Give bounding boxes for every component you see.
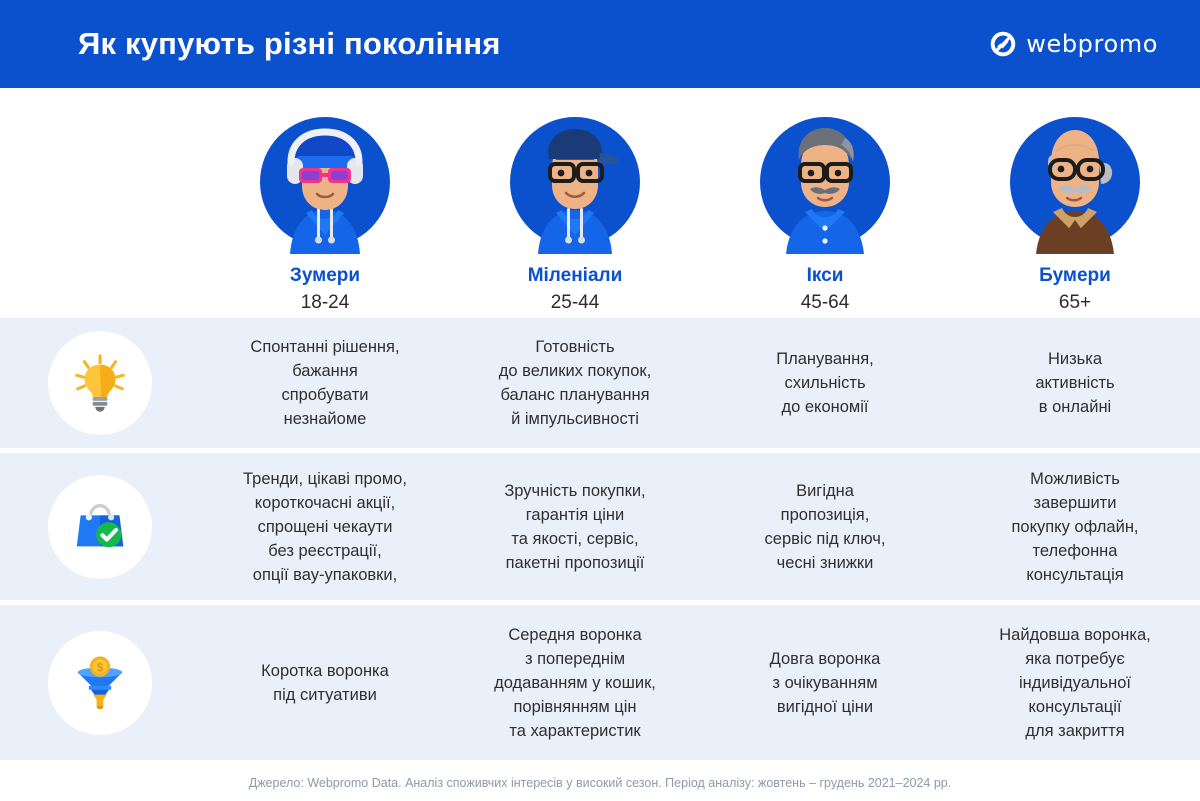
table-cell: Середня воронка з попереднім додаванням … [450, 623, 700, 743]
generation-column-zoomers: Зумери 18-24 [200, 88, 450, 318]
table-cell: Низька активність в онлайні [950, 347, 1200, 419]
webpromo-circle-chart-icon [989, 30, 1017, 58]
avatar-zoomer-beanie-sunglasses-headphones [250, 104, 400, 254]
row-icon-cell: $ [0, 631, 200, 735]
table-cell: Довга воронка з очікуванням вигідної цін… [700, 647, 950, 719]
table-cell: Зручність покупки, гарантія ціни та якос… [450, 479, 700, 575]
infographic-page: Як купують різні покоління webpromo [0, 0, 1200, 801]
generations-spacer [0, 88, 200, 318]
avatar-boomer-bald-glasses-sweater [1000, 104, 1150, 254]
table-row-funnel: $ Коротка воронка під ситуативи Середня … [0, 605, 1200, 760]
header-bar: Як купують різні покоління webpromo [0, 0, 1200, 88]
brand-logo: webpromo [989, 30, 1158, 58]
generation-column-boomers: Бумери 65+ [950, 88, 1200, 318]
table-row-motivation: Спонтанні рішення, бажання спробувати не… [0, 318, 1200, 448]
generation-name: Ікси [807, 265, 844, 287]
generation-age: 25-44 [551, 292, 600, 314]
table-cell: Готовність до великих покупок, баланс пл… [450, 335, 700, 431]
generation-age: 45-64 [801, 292, 850, 314]
generations-row: Зумери 18-24 [0, 88, 1200, 318]
table-cell: Планування, схильність до економії [700, 347, 950, 419]
footer-bar: Джерело: Webpromo Data. Аналіз споживчих… [0, 765, 1200, 801]
table-cell: Можливість завершити покупку офлайн, тел… [950, 467, 1200, 587]
generation-column-millennials: Міленіали 25-44 [450, 88, 700, 318]
sales-funnel-coin-icon: $ [48, 631, 152, 735]
row-icon-cell [0, 331, 200, 435]
generation-age: 65+ [1059, 292, 1091, 314]
table-cell: Коротка воронка під ситуативи [200, 659, 450, 707]
lightbulb-icon [48, 331, 152, 435]
table-cell: Вигідна пропозиція, сервіс під ключ, чес… [700, 479, 950, 575]
generation-name: Бумери [1039, 265, 1111, 287]
generation-name: Зумери [290, 265, 360, 287]
source-note: Джерело: Webpromo Data. Аналіз споживчих… [249, 776, 952, 790]
generation-age: 18-24 [301, 292, 350, 314]
table-cell: Найдовша воронка, яка потребує індивідуа… [950, 623, 1200, 743]
table-cell: Спонтанні рішення, бажання спробувати не… [200, 335, 450, 431]
shopping-bag-check-icon [48, 475, 152, 579]
generation-name: Міленіали [528, 265, 623, 287]
avatar-millennial-cap-glasses-hoodie [500, 104, 650, 254]
table-cell: Тренди, цікаві промо, короткочасні акції… [200, 467, 450, 587]
svg-text:$: $ [97, 661, 104, 674]
table-row-purchase-drivers: Тренди, цікаві промо, короткочасні акції… [0, 453, 1200, 600]
row-icon-cell [0, 475, 200, 579]
page-title: Як купують різні покоління [78, 26, 501, 62]
content-rows: Спонтанні рішення, бажання спробувати не… [0, 318, 1200, 765]
generation-column-genx: Ікси 45-64 [700, 88, 950, 318]
avatar-genx-glasses-mustache-polo [750, 104, 900, 254]
brand-name: webpromo [1026, 30, 1158, 58]
